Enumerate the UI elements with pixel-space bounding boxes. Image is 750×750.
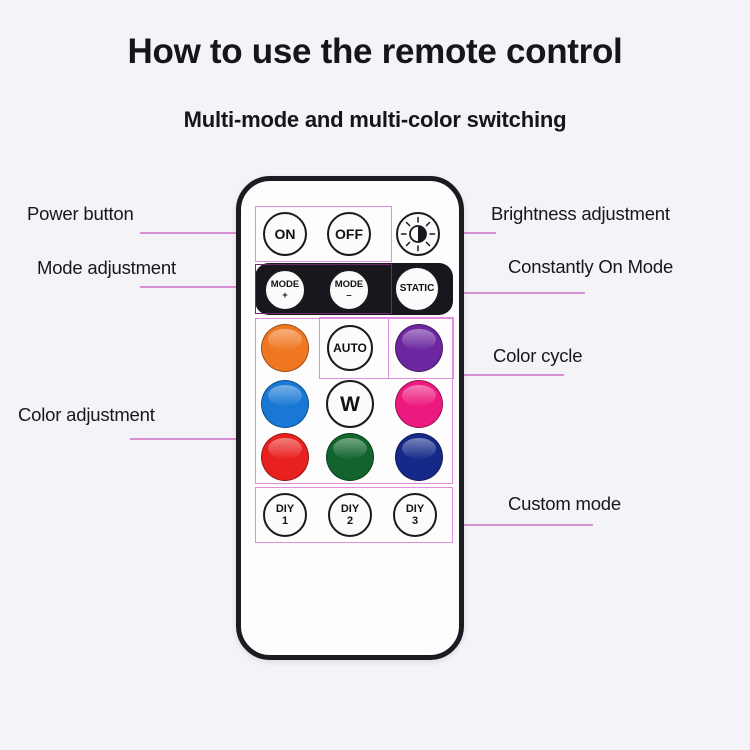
- button-diy-2-label: DIY: [341, 504, 359, 515]
- annotation-brightness: Brightness adjustment: [491, 203, 670, 225]
- button-color-green[interactable]: [326, 433, 374, 481]
- annotation-custom-mode: Custom mode: [508, 493, 621, 515]
- button-color-purple[interactable]: [395, 324, 443, 372]
- button-mode-minus[interactable]: MODE –: [328, 269, 370, 311]
- button-color-orange[interactable]: [261, 324, 309, 372]
- button-static-label: STATIC: [400, 284, 435, 294]
- button-gloss: [402, 329, 436, 350]
- button-white-label: W: [340, 394, 360, 415]
- button-gloss: [268, 329, 302, 350]
- button-auto[interactable]: AUTO: [327, 325, 373, 371]
- button-diy-3-sub: 3: [412, 516, 418, 527]
- button-gloss: [268, 438, 302, 459]
- button-off[interactable]: OFF: [327, 212, 371, 256]
- leader-line-power: [140, 232, 250, 234]
- button-mode-plus[interactable]: MODE +: [264, 269, 306, 311]
- button-diy-1[interactable]: DIY 1: [263, 493, 307, 537]
- button-on-label: ON: [275, 227, 296, 241]
- button-gloss: [268, 385, 302, 406]
- button-mode-plus-sub: +: [282, 291, 288, 301]
- annotation-static-mode: Constantly On Mode: [508, 256, 673, 278]
- button-gloss: [402, 385, 436, 406]
- button-off-label: OFF: [335, 227, 363, 241]
- button-color-blue[interactable]: [261, 380, 309, 428]
- brightness-icon: [395, 211, 441, 257]
- button-brightness[interactable]: [395, 211, 441, 257]
- button-gloss: [333, 438, 367, 459]
- leader-line-custom: [443, 524, 593, 526]
- page-title: How to use the remote control: [0, 32, 750, 72]
- button-mode-minus-label: MODE: [335, 280, 364, 290]
- button-diy-2-sub: 2: [347, 516, 353, 527]
- button-color-magenta[interactable]: [395, 380, 443, 428]
- button-mode-minus-sub: –: [346, 291, 351, 301]
- button-on[interactable]: ON: [263, 212, 307, 256]
- button-diy-1-sub: 1: [282, 516, 288, 527]
- page-subtitle: Multi-mode and multi-color switching: [0, 107, 750, 133]
- button-diy-1-label: DIY: [276, 504, 294, 515]
- button-mode-plus-label: MODE: [271, 280, 300, 290]
- button-diy-3[interactable]: DIY 3: [393, 493, 437, 537]
- button-gloss: [402, 438, 436, 459]
- button-diy-3-label: DIY: [406, 504, 424, 515]
- remote-control-body: ON OFF MODE + MODE –: [236, 176, 464, 660]
- button-color-red[interactable]: [261, 433, 309, 481]
- button-auto-label: AUTO: [333, 342, 367, 354]
- button-static[interactable]: STATIC: [394, 266, 440, 312]
- annotation-color-cycle: Color cycle: [493, 345, 582, 367]
- annotation-power-button: Power button: [27, 203, 134, 225]
- button-color-navy[interactable]: [395, 433, 443, 481]
- annotation-mode-adjustment: Mode adjustment: [37, 257, 176, 279]
- button-white[interactable]: W: [326, 380, 374, 428]
- button-diy-2[interactable]: DIY 2: [328, 493, 372, 537]
- annotation-color-adjustment: Color adjustment: [18, 404, 155, 426]
